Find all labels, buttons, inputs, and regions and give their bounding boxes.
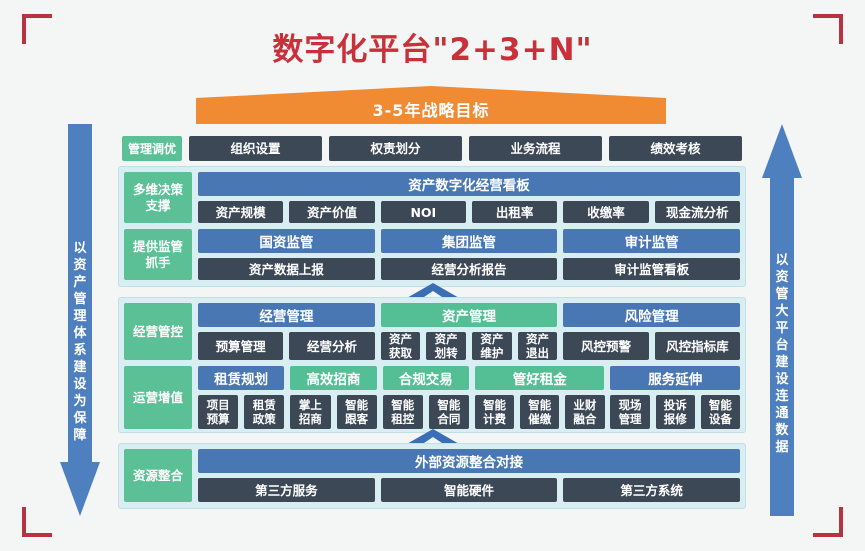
item-asset-value[interactable]: 资产价值 [289, 201, 374, 223]
item-asset-maintenance[interactable]: 资产维护 [472, 332, 512, 360]
block-operation-control: 经营管控 经营管理 预算管理 经营分析 资产管理 资产获取 资产划转 资产维护 [124, 303, 740, 360]
management-item-2[interactable]: 业务流程 [469, 136, 602, 161]
block-label-line-0: 提供监管 [133, 239, 183, 254]
item-asset-scale[interactable]: 资产规模 [198, 201, 283, 223]
item-smart-customer-tracking[interactable]: 智能跟客 [337, 395, 377, 429]
left-arrow-label: 以资产管理体系建设为保障 [60, 240, 100, 444]
page-title: 数字化平台"2+3+N" [0, 24, 865, 69]
block-label-supervision-handle: 提供监管 抓手 [124, 229, 192, 280]
management-optimisation-row: 管理调优 组织设置 权责划分 业务流程 绩效考核 [122, 136, 742, 161]
item-third-party-service[interactable]: 第三方服务 [198, 478, 375, 502]
item-occupancy-rate[interactable]: 出租率 [472, 201, 557, 223]
item-project-budget[interactable]: 项目预算 [198, 395, 238, 429]
panel-decision-supervision: 多维决策 支撑 资产数字化经营看板 资产规模 资产价值 NOI 出租率 收缴率 … [118, 166, 746, 287]
block-label-line-1: 支撑 [145, 198, 170, 213]
item-audit-supervision-dashboard[interactable]: 审计监管看板 [563, 258, 740, 280]
item-lease-policy[interactable]: 租赁政策 [244, 395, 284, 429]
item-smart-collection[interactable]: 智能催缴 [520, 395, 559, 429]
item-collection-rate[interactable]: 收缴率 [563, 201, 648, 223]
strategy-banner: 3-5年战略目标 [196, 86, 666, 124]
management-item-0[interactable]: 组织设置 [189, 136, 322, 161]
header-asset-digital-dashboard[interactable]: 资产数字化经营看板 [198, 172, 740, 196]
item-third-party-system[interactable]: 第三方系统 [563, 478, 740, 502]
block-resource-integration: 资源整合 外部资源整合对接 第三方服务 智能硬件 第三方系统 [124, 449, 740, 502]
block-supervision-handle: 提供监管 抓手 国资监管 资产数据上报 集团监管 经营分析报告 审计监管 审计监… [124, 229, 740, 280]
item-asset-acquisition[interactable]: 资产获取 [381, 332, 421, 360]
panel-resource-integration: 资源整合 外部资源整合对接 第三方服务 智能硬件 第三方系统 [118, 443, 746, 509]
corner-bracket-top-right [813, 14, 843, 44]
header-asset-management[interactable]: 资产管理 [381, 303, 558, 327]
item-mobile-investment[interactable]: 掌上招商 [290, 395, 330, 429]
item-smart-lease-control[interactable]: 智能租控 [383, 395, 423, 429]
corner-bracket-top-left [22, 14, 52, 44]
block-operation-value-add: 运营增值 租赁规划 项目预算 租赁政策 高效招商 掌上招商 智能跟客 [124, 366, 740, 429]
item-business-finance-integration[interactable]: 业财融合 [565, 395, 604, 429]
management-item-3[interactable]: 绩效考核 [609, 136, 742, 161]
block-label-resource-integration: 资源整合 [124, 449, 192, 502]
block-label-line-0: 多维决策 [133, 182, 183, 197]
header-group-supervision[interactable]: 集团监管 [381, 229, 558, 253]
item-asset-transfer[interactable]: 资产划转 [426, 332, 466, 360]
corner-bracket-bottom-left [22, 507, 52, 537]
header-efficient-investment[interactable]: 高效招商 [290, 366, 376, 390]
item-complaint-repair[interactable]: 投诉报修 [656, 395, 695, 429]
header-compliant-transaction[interactable]: 合规交易 [383, 366, 469, 390]
item-smart-device[interactable]: 智能设备 [701, 395, 740, 429]
block-label-operation-value-add: 运营增值 [124, 366, 192, 429]
block-label-decision-support: 多维决策 支撑 [124, 172, 192, 223]
header-audit-supervision[interactable]: 审计监管 [563, 229, 740, 253]
item-smart-billing[interactable]: 智能计费 [475, 395, 514, 429]
item-smart-contract[interactable]: 智能合同 [429, 395, 469, 429]
block-decision-support: 多维决策 支撑 资产数字化经营看板 资产规模 资产价值 NOI 出租率 收缴率 … [124, 172, 740, 223]
item-risk-indicator-library[interactable]: 风控指标库 [655, 332, 740, 360]
header-risk-management[interactable]: 风险管理 [563, 303, 740, 327]
item-asset-data-report[interactable]: 资产数据上报 [198, 258, 375, 280]
item-cashflow-analysis[interactable]: 现金流分析 [655, 201, 740, 223]
header-state-asset-supervision[interactable]: 国资监管 [198, 229, 375, 253]
management-row-label: 管理调优 [122, 136, 182, 161]
management-item-1[interactable]: 权责划分 [329, 136, 462, 161]
header-service-extension[interactable]: 服务延伸 [610, 366, 740, 390]
left-guarantee-arrow: 以资产管理体系建设为保障 [60, 124, 100, 516]
item-risk-warning[interactable]: 风控预警 [563, 332, 648, 360]
header-lease-planning[interactable]: 租赁规划 [198, 366, 284, 390]
right-platform-arrow: 以资管大平台建设连通数据 [762, 124, 802, 516]
strategy-banner-label: 3-5年战略目标 [196, 86, 666, 124]
header-business-management[interactable]: 经营管理 [198, 303, 375, 327]
item-smart-hardware[interactable]: 智能硬件 [381, 478, 558, 502]
corner-bracket-bottom-right [813, 507, 843, 537]
panel-operation-control: 经营管控 经营管理 预算管理 经营分析 资产管理 资产获取 资产划转 资产维护 [118, 297, 746, 433]
item-budget-management[interactable]: 预算管理 [198, 332, 283, 360]
header-external-resource-integration[interactable]: 外部资源整合对接 [198, 449, 740, 473]
item-operation-analysis-report[interactable]: 经营分析报告 [381, 258, 558, 280]
block-label-operation-control: 经营管控 [124, 303, 192, 360]
block-label-line-1: 抓手 [145, 255, 170, 270]
header-rent-management[interactable]: 管好租金 [475, 366, 605, 390]
item-noi[interactable]: NOI [381, 201, 466, 223]
item-business-analysis[interactable]: 经营分析 [289, 332, 374, 360]
item-asset-exit[interactable]: 资产退出 [518, 332, 558, 360]
item-onsite-management[interactable]: 现场管理 [610, 395, 649, 429]
